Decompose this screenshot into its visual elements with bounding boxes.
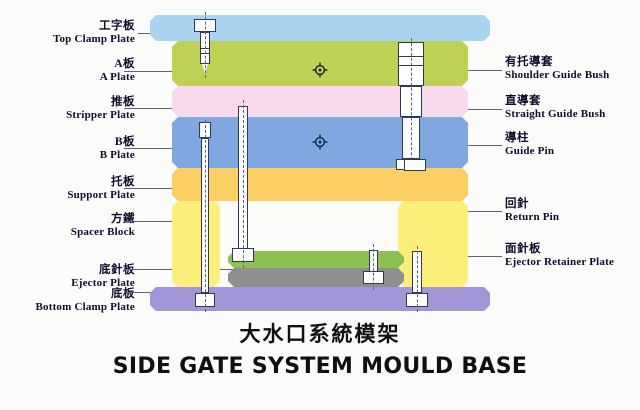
mould-base-assembly (150, 8, 490, 308)
label-ejector-retainer-plate: 面針板 Ejector Retainer Plate (505, 243, 614, 268)
label-shoulder-guide-bush-cn: 有托導套 (505, 56, 609, 69)
label-ejector-plate-cn: 底針板 (71, 264, 135, 277)
label-guide-pin-cn: 導柱 (505, 132, 554, 145)
label-a-plate-en: A Plate (100, 71, 135, 83)
label-stripper-plate-cn: 推板 (66, 96, 135, 109)
label-bottom-clamp-plate: 底板 Bottom Clamp Plate (35, 288, 135, 313)
label-ejector-plate: 底針板 Ejector Plate (71, 264, 135, 289)
label-straight-guide-bush-cn: 直導套 (505, 95, 605, 108)
plate-support-plate (172, 168, 468, 201)
ejector-pin-centerline-left (205, 120, 206, 312)
center-crosshair-a-plate (312, 62, 328, 78)
label-top-clamp-plate-cn: 工字板 (53, 20, 135, 33)
center-crosshair-b-plate (312, 134, 328, 150)
label-b-plate-cn: B板 (100, 136, 135, 149)
guide-pin-centerline (411, 38, 412, 170)
label-support-plate-cn: 托板 (67, 176, 135, 189)
label-return-pin-cn: 回針 (505, 198, 559, 211)
label-b-plate-en: B Plate (100, 149, 135, 161)
label-top-clamp-plate: 工字板 Top Clamp Plate (53, 20, 135, 45)
label-guide-pin-en: Guide Pin (505, 145, 554, 157)
label-straight-guide-bush: 直導套 Straight Guide Bush (505, 95, 605, 120)
label-stripper-plate-en: Stripper Plate (66, 109, 135, 121)
ejector-sleeve-centerline (243, 100, 244, 268)
label-spacer-block: 方鐵 Spacer Block (71, 213, 135, 238)
diagram-canvas: 工字板 Top Clamp Plate A板 A Plate 推板 Stripp… (0, 0, 640, 410)
retainer-screw-centerline (373, 244, 374, 290)
label-straight-guide-bush-en: Straight Guide Bush (505, 108, 605, 120)
label-shoulder-guide-bush-en: Shoulder Guide Bush (505, 69, 609, 81)
label-bottom-clamp-plate-cn: 底板 (35, 288, 135, 301)
label-bottom-clamp-plate-en: Bottom Clamp Plate (35, 301, 135, 313)
label-return-pin-en: Return Pin (505, 211, 559, 223)
title-english: SIDE GATE SYSTEM MOULD BASE (0, 354, 640, 379)
return-pin-centerline (417, 246, 418, 312)
label-shoulder-guide-bush: 有托導套 Shoulder Guide Bush (505, 56, 609, 81)
label-top-clamp-plate-en: Top Clamp Plate (53, 33, 135, 45)
title-block: 大水口系統模架 SIDE GATE SYSTEM MOULD BASE (0, 318, 640, 379)
label-spacer-block-cn: 方鐵 (71, 213, 135, 226)
support-clamp-bolt (404, 159, 426, 171)
label-guide-pin: 導柱 Guide Pin (505, 132, 554, 157)
plate-stripper-plate (172, 86, 468, 117)
label-a-plate-cn: A板 (100, 58, 135, 71)
label-support-plate-en: Support Plate (67, 189, 135, 201)
title-chinese: 大水口系統模架 (0, 318, 640, 348)
label-ejector-retainer-plate-cn: 面針板 (505, 243, 614, 256)
plate-spacer-block-left (172, 201, 220, 287)
sprue-bolt-centerline (205, 12, 206, 78)
label-spacer-block-en: Spacer Block (71, 226, 135, 238)
label-return-pin: 回針 Return Pin (505, 198, 559, 223)
label-ejector-retainer-plate-en: Ejector Retainer Plate (505, 256, 614, 268)
plate-spacer-block-right (398, 201, 468, 287)
